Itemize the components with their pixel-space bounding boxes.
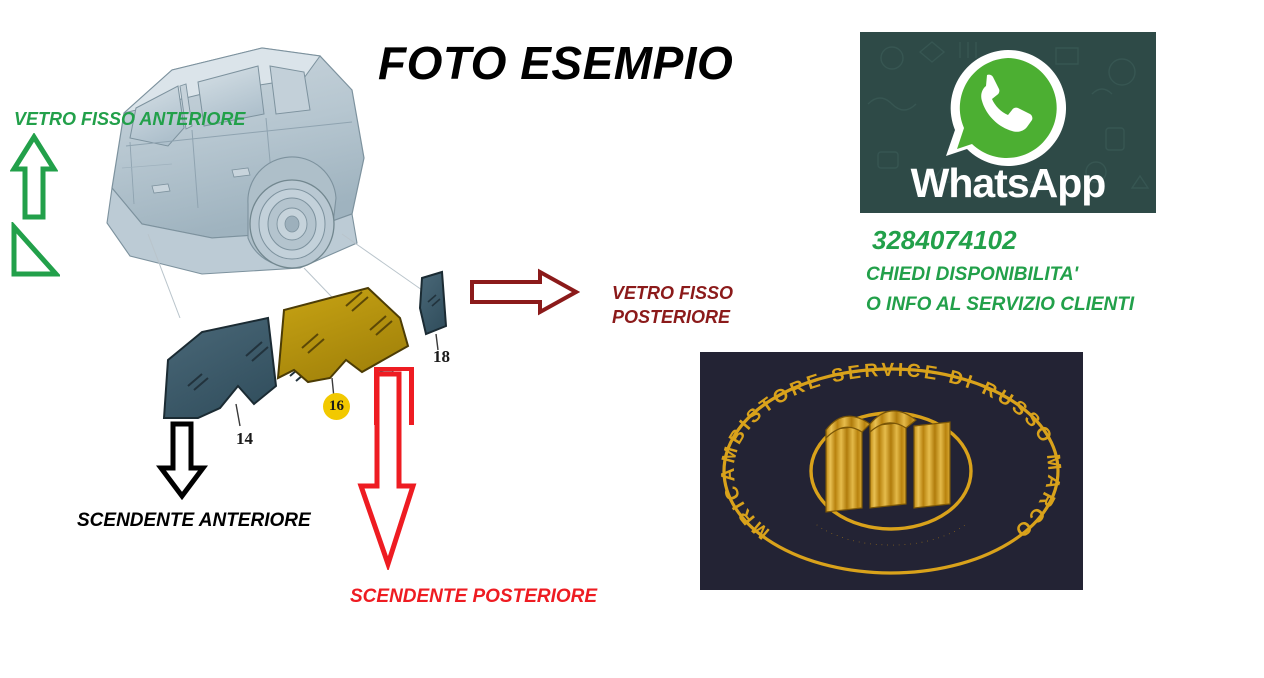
whatsapp-wordmark: WhatsApp xyxy=(860,160,1156,207)
label-vetro-fisso-anteriore: VETRO FISSO ANTERIORE xyxy=(14,109,245,130)
label-vetro-fisso-posteriore-line2: POSTERIORE xyxy=(612,305,733,329)
right-arrow-dark-red-icon xyxy=(468,268,580,321)
label-vetro-fisso-posteriore-line1: VETRO FISSO xyxy=(612,281,733,305)
down-arrow-black-icon xyxy=(155,420,209,505)
whatsapp-banner[interactable]: WhatsApp xyxy=(860,32,1156,213)
label-scendente-posteriore: SCENDENTE POSTERIORE xyxy=(350,586,597,608)
down-arrow-red-icon xyxy=(355,370,417,575)
part-label-18: 18 xyxy=(433,347,450,367)
up-arrow-green-icon xyxy=(10,133,58,226)
page-title: FOTO ESEMPIO xyxy=(378,36,733,90)
triangle-green-icon xyxy=(4,222,60,285)
contact-line-1: CHIEDI DISPONIBILITA' xyxy=(866,264,1078,286)
label-vetro-fisso-posteriore: VETRO FISSO POSTERIORE xyxy=(612,281,733,330)
part-badge-16: 16 xyxy=(323,393,350,420)
exploded-glass-parts xyxy=(150,268,480,428)
shop-logo-banner: MRICAMBISTORE SERVICE DI RUSSO MARCO · ·… xyxy=(700,352,1083,590)
label-scendente-anteriore: SCENDENTE ANTERIORE xyxy=(77,510,311,532)
poster-canvas: 16 17 14 18 FOTO ESEMPIO VETRO FISSO ANT… xyxy=(0,0,1264,678)
part-label-14: 14 xyxy=(236,429,253,449)
phone-number[interactable]: 3284074102 xyxy=(872,225,1017,256)
contact-line-2: O INFO AL SERVIZIO CLIENTI xyxy=(866,294,1134,316)
